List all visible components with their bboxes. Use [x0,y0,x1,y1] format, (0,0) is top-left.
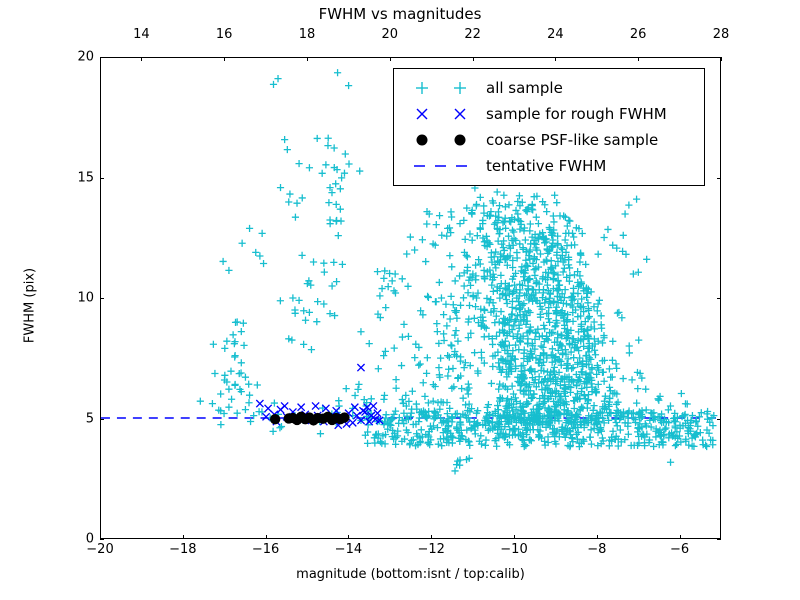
y-axis-tick [100,419,104,420]
axis-tick-label: 20 [77,50,94,65]
y-axis-right-tick [717,298,721,299]
axis-tick-label: 26 [630,27,647,42]
dot-icon [400,127,486,153]
axis-tick-label: −10 [500,542,527,557]
legend-item[interactable]: coarse PSF-like sample [394,127,704,153]
x-axis-top-tick [555,57,556,61]
legend-label: all sample [486,79,563,97]
y-axis-tick [100,298,104,299]
axis-tick-label: 22 [464,27,481,42]
y-axis-tick [100,57,104,58]
x-axis-top-tick [473,57,474,61]
axis-tick-label: 5 [86,411,94,426]
axis-tick-label: −18 [169,542,196,557]
axis-tick-label: −6 [670,542,689,557]
axis-tick-label: −8 [587,542,606,557]
y-axis-tick [100,178,104,179]
x-axis-tick [514,535,515,539]
axis-tick-label: −14 [335,542,362,557]
axis-tick-label: 14 [133,27,150,42]
figure-canvas: FWHM vs magnitudes −20−18−16−14−12−10−8−… [0,0,800,600]
axis-tick-label: −16 [252,542,279,557]
axis-tick-label: 28 [713,27,730,42]
axis-tick-label: 18 [299,27,316,42]
legend-item[interactable]: tentative FWHM [394,153,704,179]
x-axis-top-tick [638,57,639,61]
y-axis-right-tick [717,419,721,420]
plus-icon [400,75,486,101]
axis-tick-label: 24 [547,27,564,42]
cross-icon [400,101,486,127]
x-axis-top-tick [721,57,722,61]
x-axis-top-tick [224,57,225,61]
dashed-line-icon [400,153,486,179]
x-axis-top-tick [390,57,391,61]
legend-label: sample for rough FWHM [486,105,667,123]
axis-tick-label: 15 [77,170,94,185]
legend-item[interactable]: all sample [394,75,704,101]
chart-title: FWHM vs magnitudes [0,5,800,23]
x-axis-title: magnitude (bottom:isnt / top:calib) [100,567,721,582]
x-axis-tick [597,535,598,539]
axis-tick-label: 0 [86,532,94,547]
axis-tick-label: 20 [382,27,399,42]
y-axis-tick [100,539,104,540]
y-axis-title: FWHM (pix) [23,216,38,396]
axis-tick-label: −12 [417,542,444,557]
y-axis-right-tick [717,57,721,58]
legend-label: coarse PSF-like sample [486,131,658,149]
x-axis-tick [183,535,184,539]
legend-item[interactable]: sample for rough FWHM [394,101,704,127]
x-axis-tick [680,535,681,539]
y-axis-right-tick [717,178,721,179]
chart-legend: all sample sample for rough FWHM c [393,68,705,186]
x-axis-top-tick [141,57,142,61]
axis-tick-label: 16 [216,27,233,42]
x-axis-tick [348,535,349,539]
y-axis-right-tick [717,539,721,540]
x-axis-tick [266,535,267,539]
x-axis-tick [431,535,432,539]
axis-tick-label: 10 [77,291,94,306]
x-axis-top-tick [307,57,308,61]
legend-label: tentative FWHM [486,157,606,175]
